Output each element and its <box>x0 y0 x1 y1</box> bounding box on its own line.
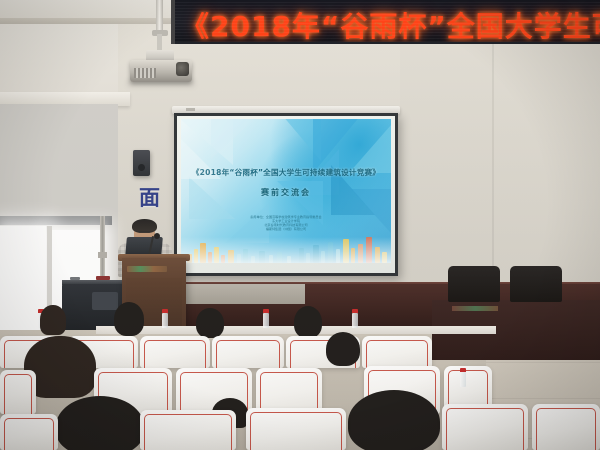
chair[interactable] <box>256 368 322 412</box>
water-bottle[interactable] <box>352 313 358 328</box>
chair[interactable] <box>212 336 284 368</box>
wall-sign-text: 面 <box>139 182 161 212</box>
presentation-slide: 《2018年“谷雨杯”全国大学生可持续建筑设计竞赛》 赛前交流会 指导单位：全国… <box>181 119 391 263</box>
cabinet-item <box>70 277 80 280</box>
microphone-head <box>154 233 160 239</box>
chair[interactable] <box>442 404 528 450</box>
slide-organizer-line-4: 福斯特集团（中国）有限公司 <box>181 227 391 231</box>
window-header <box>0 216 112 225</box>
water-bottle-cap <box>352 309 358 313</box>
presenter-glasses <box>136 231 153 236</box>
wall-light-panel <box>170 284 305 304</box>
water-bottle-cap <box>162 309 168 313</box>
seat-desk-label <box>452 306 498 311</box>
pipe-joint <box>98 252 107 258</box>
projector-pole <box>156 0 163 34</box>
chair[interactable] <box>140 336 210 368</box>
projector-lens <box>176 62 189 76</box>
projector-vent <box>134 68 156 78</box>
water-bottle[interactable] <box>162 313 168 328</box>
av-cabinet-panel <box>92 292 118 310</box>
attendee-head <box>348 390 440 450</box>
led-banner-text: 《2018年“谷雨杯”全国大学生可持续 <box>181 5 600 44</box>
right-seat-back[interactable] <box>448 266 500 302</box>
chair[interactable] <box>246 408 346 450</box>
slide-subtitle: 赛前交流会 <box>181 187 391 198</box>
attendee-head <box>114 302 144 336</box>
right-wall <box>400 24 600 314</box>
attendee-head <box>294 306 322 338</box>
floor-tile-line <box>486 362 600 363</box>
right-seat-back[interactable] <box>510 266 562 302</box>
floor-tile-line <box>486 398 600 399</box>
led-banner: 《2018年“谷雨杯”全国大学生可持续 <box>175 0 600 44</box>
chair[interactable] <box>532 404 600 450</box>
screen-case-button <box>186 108 195 111</box>
attendee-head <box>326 332 360 366</box>
slide-skyline-graphic <box>181 233 391 263</box>
attendee-head <box>40 305 66 335</box>
water-bottle-cap <box>460 368 466 372</box>
chair[interactable] <box>0 370 36 414</box>
lecture-hall-photo: 《2018年“谷雨杯”全国大学生可持续 面 《2018年“谷雨杯”全国大学生可持… <box>0 0 600 450</box>
podium-nameplate <box>127 266 167 272</box>
water-bottle[interactable] <box>263 313 269 328</box>
water-bottle-cap <box>263 309 269 313</box>
water-bottle[interactable] <box>460 372 466 387</box>
attendee-head <box>196 308 224 338</box>
chair[interactable] <box>140 410 236 450</box>
slide-title: 《2018年“谷雨杯”全国大学生可持续建筑设计竞赛》 <box>181 167 391 178</box>
wall-speaker <box>133 150 150 176</box>
chair[interactable] <box>0 414 58 450</box>
chair[interactable] <box>362 336 432 368</box>
attendee-head <box>56 396 144 450</box>
cabinet-item <box>96 276 110 280</box>
